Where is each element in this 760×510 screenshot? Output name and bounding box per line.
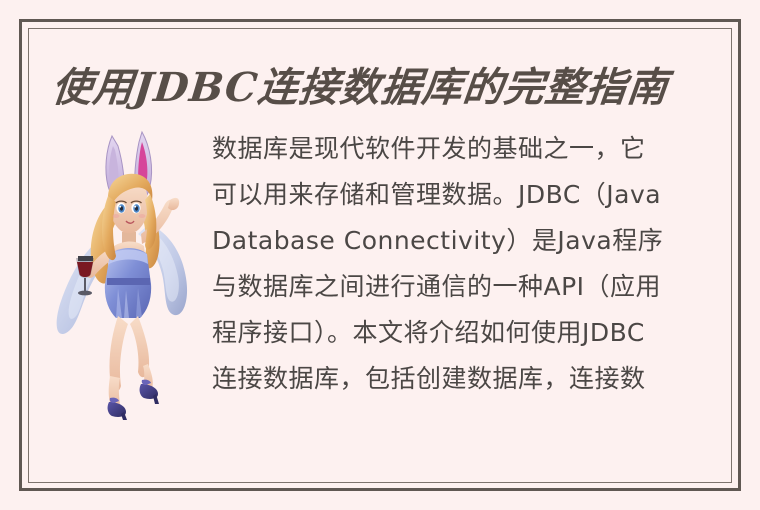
article-line: 与数据库之间进行通信的一种API（应用 <box>212 264 732 310</box>
bunny-girl-illustration <box>46 128 211 420</box>
article-line: 连接数据库，包括创建数据库，连接数 <box>212 356 732 402</box>
article-line: 程序接口）。本文将介绍如何使用JDBC <box>212 310 732 356</box>
article-line: Database Connectivity）是Java程序 <box>212 218 732 264</box>
article-body: 数据库是现代软件开发的基础之一，它 可以用来存储和管理数据。JDBC（Java … <box>212 126 732 416</box>
page-title: 使用JDBC连接数据库的完整指南 <box>49 60 695 116</box>
poster-canvas: 使用JDBC连接数据库的完整指南 数据库是现代软件开发的基础之一，它 可以用来存… <box>0 0 760 510</box>
article-line: 数据库是现代软件开发的基础之一，它 <box>212 126 732 172</box>
article-line: 可以用来存储和管理数据。JDBC（Java <box>212 172 732 218</box>
